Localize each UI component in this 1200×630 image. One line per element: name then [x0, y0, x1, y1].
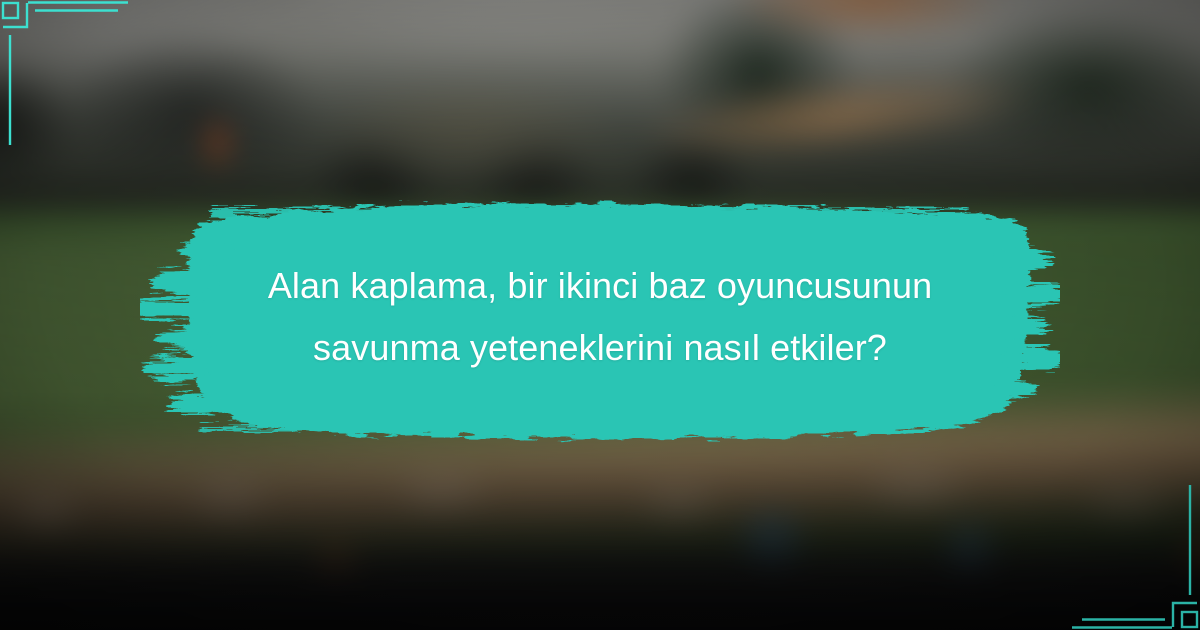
headline-text: Alan kaplama, bir ikinci baz oyuncusunun… [170, 255, 1030, 379]
share-card: Alan kaplama, bir ikinci baz oyuncusunun… [0, 0, 1200, 630]
